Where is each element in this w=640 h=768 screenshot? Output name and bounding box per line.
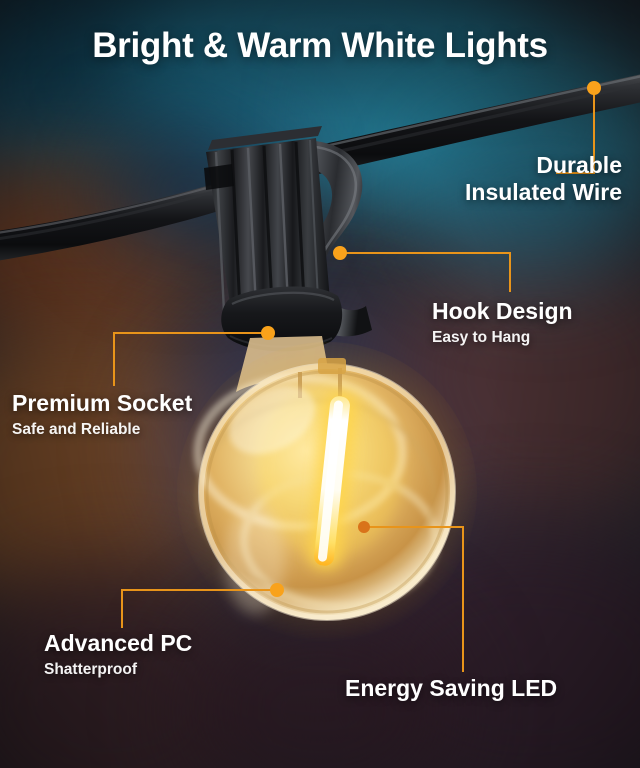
callout-energy-saving-led: Energy Saving LED <box>345 675 557 702</box>
callout-hook-design: Hook Design Easy to Hang <box>432 298 573 348</box>
insulated-wire-left <box>0 184 222 262</box>
led-bulb <box>177 336 477 642</box>
callout-durable-insulated-wire: Durable Insulated Wire <box>465 152 622 205</box>
callout-subtitle: Easy to Hang <box>432 328 573 348</box>
callout-title: Advanced PC <box>44 630 192 657</box>
callout-title: Energy Saving LED <box>345 675 557 702</box>
callout-subtitle: Safe and Reliable <box>12 420 192 440</box>
callout-subtitle: Shatterproof <box>44 660 192 680</box>
callout-title-line2: Insulated Wire <box>465 179 622 206</box>
callout-title: Durable <box>465 152 622 179</box>
page-title: Bright & Warm White Lights <box>0 26 640 66</box>
callout-title: Hook Design <box>432 298 573 325</box>
infographic-canvas: Bright & Warm White Lights Durable Insul… <box>0 0 640 768</box>
callout-advanced-pc: Advanced PC Shatterproof <box>44 630 192 680</box>
callout-title: Premium Socket <box>12 390 192 417</box>
callout-premium-socket: Premium Socket Safe and Reliable <box>12 390 192 440</box>
